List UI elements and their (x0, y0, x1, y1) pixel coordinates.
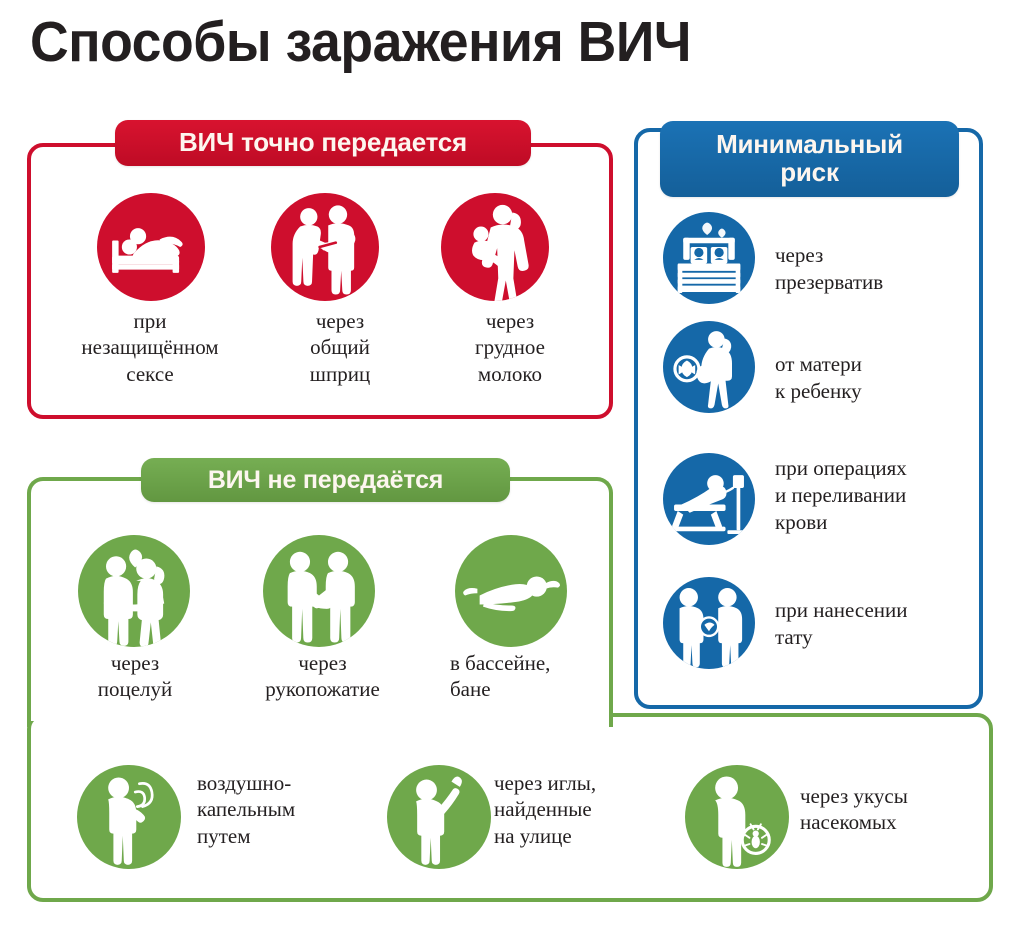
frame-seam-patch (31, 707, 609, 721)
page-title: Способы заражения ВИЧ (30, 14, 691, 71)
section-banner-minimal-risk: Минимальный риск (660, 121, 959, 197)
infographic-canvas: Способы заражения ВИЧ ВИЧ точно передает… (0, 0, 1024, 952)
surgery-transfusion-icon (663, 453, 755, 545)
pregnant-woman-icon (663, 321, 755, 413)
caption-condom: через презерватив (775, 242, 883, 296)
breastfeeding-icon (441, 193, 549, 301)
caption-unprotected-sex: при незащищённом сексе (30, 308, 270, 387)
swimmer-icon (455, 535, 567, 647)
street-needle-icon (387, 765, 491, 869)
caption-kiss: через поцелуй (40, 650, 230, 703)
section-banner-certain: ВИЧ точно передается (115, 120, 531, 166)
kissing-couple-icon (78, 535, 190, 647)
caption-surgery-transfusion: при операциях и переливании крови (775, 455, 907, 536)
caption-pool-bath: в бассейне, бане (450, 650, 615, 703)
shared-syringe-icon (271, 193, 379, 301)
caption-shared-syringe: через общий шприц (240, 308, 440, 387)
section-banner-not-transmitted: ВИЧ не передаётся (141, 458, 510, 502)
caption-mother-to-child: от матери к ребенку (775, 351, 862, 405)
handshake-icon (263, 535, 375, 647)
caption-tattoo: при нанесении тату (775, 597, 907, 651)
caption-breast-milk: через грудное молоко (420, 308, 600, 387)
tattoo-icon (663, 577, 755, 669)
sneezing-person-icon (77, 765, 181, 869)
caption-insect-bites: через укусы насекомых (800, 783, 990, 836)
caption-handshake: через рукопожатие (215, 650, 430, 703)
banner-line-1: Минимальный (716, 131, 903, 159)
insect-bite-icon (685, 765, 789, 869)
bed-couple-icon (97, 193, 205, 301)
caption-street-needles: через иглы, найденные на улице (494, 770, 674, 849)
bed-condom-icon (663, 212, 755, 304)
banner-line-2: риск (780, 159, 839, 187)
caption-airborne: воздушно- капельным путем (197, 770, 367, 849)
